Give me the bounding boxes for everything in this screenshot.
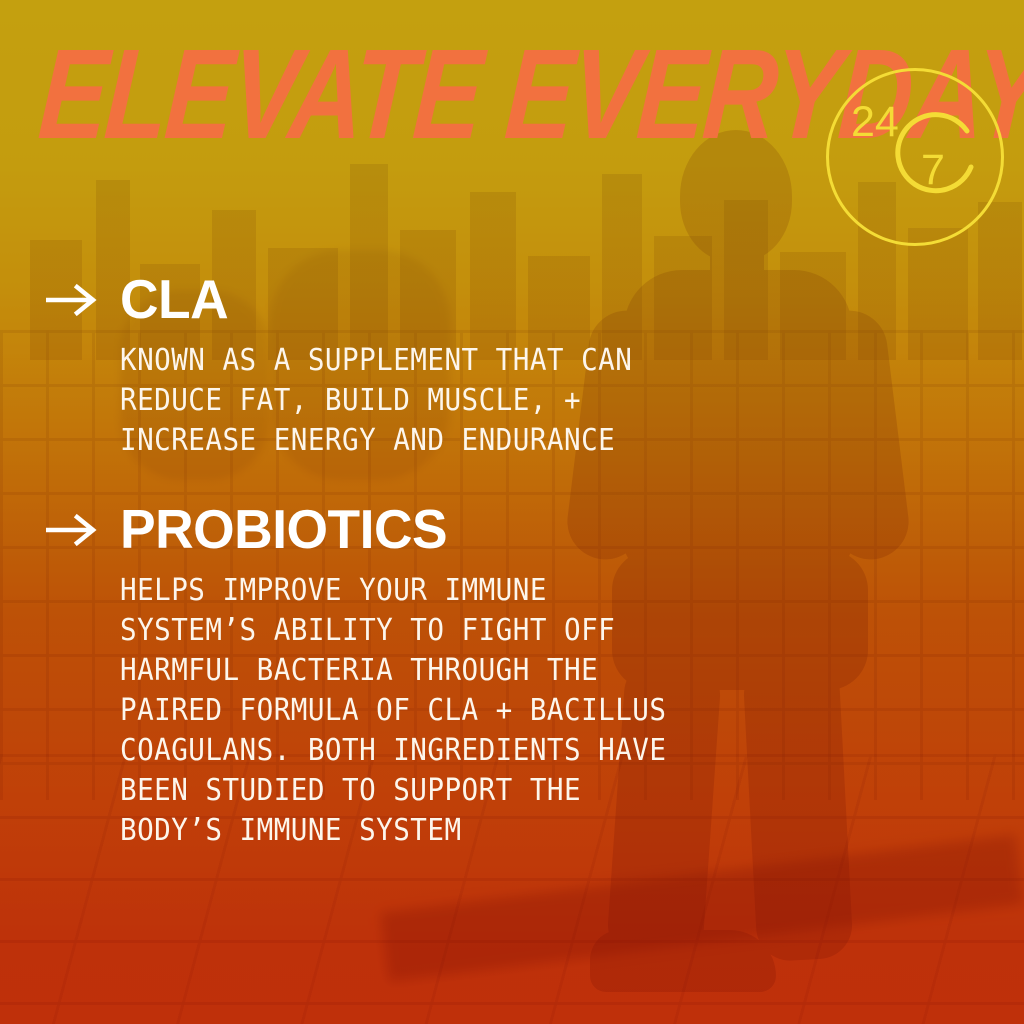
section-cla: CLA KNOWN AS A SUPPLEMENT THAT CAN REDUC… bbox=[46, 272, 677, 461]
section-body-probiotics: HELPS IMPROVE YOUR IMMUNE SYSTEM’S ABILI… bbox=[120, 571, 666, 851]
section-title-cla: CLA bbox=[120, 272, 228, 327]
badge-number-7: 7 bbox=[921, 149, 945, 192]
arrow-right-icon bbox=[46, 513, 98, 547]
24-7-badge: 24 7 bbox=[826, 68, 1004, 246]
arrow-right-icon bbox=[46, 283, 98, 317]
promo-poster: ELEVATE EVERYDAY 24 7 CLA KNOWN AS A SUP… bbox=[0, 0, 1024, 1024]
section-title-probiotics: PROBIOTICS bbox=[120, 502, 447, 557]
section-body-cla: KNOWN AS A SUPPLEMENT THAT CAN REDUCE FA… bbox=[120, 341, 632, 461]
section-probiotics: PROBIOTICS HELPS IMPROVE YOUR IMMUNE SYS… bbox=[46, 502, 714, 851]
